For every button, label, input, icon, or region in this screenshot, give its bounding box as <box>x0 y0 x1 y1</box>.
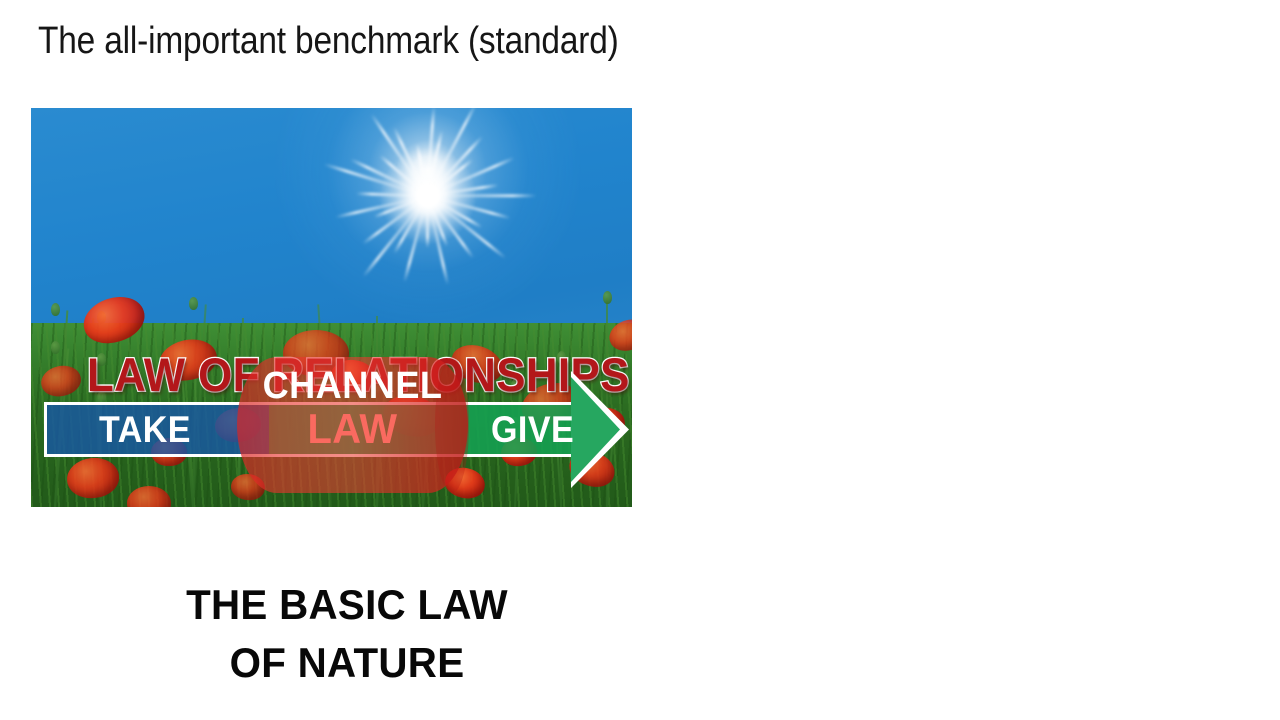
caption-line-2: OF NATURE <box>102 634 592 692</box>
channel-label: CHANNEL <box>243 365 462 407</box>
caption-line-1: THE BASIC LAW <box>102 576 592 634</box>
take-channel-give-arrow: TAKE GIVE CHANNEL LAW <box>31 108 632 507</box>
arrow-head-icon <box>571 377 620 482</box>
give-label: GIVE <box>491 405 574 454</box>
law-label: LAW <box>243 404 462 454</box>
page-title: The all-important benchmark (standard) <box>38 20 619 63</box>
caption-block: THE BASIC LAW OF NATURE <box>102 576 592 692</box>
slide-image: LAW OF RELATIONSHIPS TAKE GIVE CHANNEL L… <box>31 108 632 507</box>
take-label: TAKE <box>99 405 191 454</box>
